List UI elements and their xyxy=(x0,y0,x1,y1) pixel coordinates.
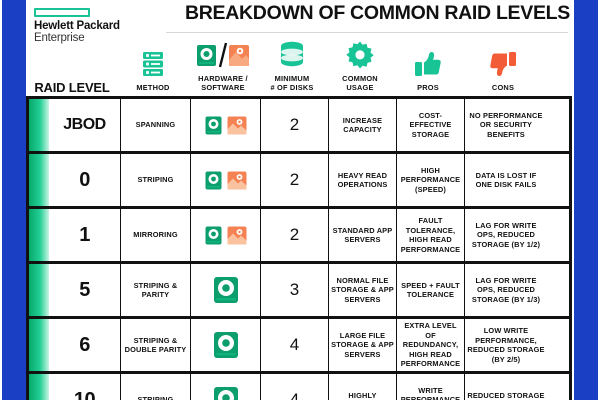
cell-minimum-disks: 2 xyxy=(261,99,329,151)
method-value: SPANNING xyxy=(136,120,176,130)
raid-levels-table: JBOD SPANNING 2 INCREASE CAPACITY COST-E… xyxy=(26,96,572,400)
cell-minimum-disks: 3 xyxy=(261,264,329,316)
cell-pros: HIGH PERFORMANCE (SPEED) xyxy=(397,154,465,206)
row-accent-bar xyxy=(29,374,49,400)
row-accent-bar xyxy=(29,264,49,316)
cell-cons: LAG FOR WRITE OPS, REDUCED STORAGE (BY 1… xyxy=(465,209,547,261)
raid-level-value: 10 xyxy=(74,389,95,400)
table-row: 0 STRIPING 2 HEAVY READ OPERATIONS HIGH … xyxy=(29,154,569,209)
hdd-and-software-icon xyxy=(196,39,250,71)
cell-cons: LAG FOR WRITE OPS, REDUCED STORAGE (BY 1… xyxy=(465,264,547,316)
common-usage-value: NORMAL FILE STORAGE & APP SERVERS xyxy=(331,276,394,305)
thumbs-down-icon xyxy=(489,48,517,80)
method-value: STRIPING & DOUBLE PARITY xyxy=(123,336,188,355)
hdd-and-software-icon xyxy=(205,226,247,245)
column-header-label-line1: MINIMUM xyxy=(275,74,310,83)
cons-value: DATA IS LOST IF ONE DISK FAILS xyxy=(467,171,545,190)
cell-common-usage: LARGE FILE STORAGE & APP SERVERS xyxy=(329,319,397,371)
column-headers: RAID LEVEL ME xyxy=(26,36,574,94)
cell-raid-level: JBOD xyxy=(29,99,121,151)
raid-level-value: 6 xyxy=(79,334,90,357)
column-header-pros: PROS xyxy=(394,36,462,94)
cell-common-usage: HEAVY READ OPERATIONS xyxy=(329,154,397,206)
right-blue-rail xyxy=(574,0,598,400)
brand-name-line1: Hewlett Packard xyxy=(34,20,164,32)
cell-pros: EXTRA LEVEL OF REDUNDANCY, HIGH READ PER… xyxy=(397,319,465,371)
cell-minimum-disks: 4 xyxy=(261,374,329,400)
page-title: BREAKDOWN OF COMMON RAID LEVELS xyxy=(185,2,570,25)
column-header-label-line2: SOFTWARE xyxy=(201,83,244,92)
cell-method: STRIPING & PARITY xyxy=(121,264,191,316)
hdd-icon xyxy=(213,276,239,304)
cell-common-usage: NORMAL FILE STORAGE & APP SERVERS xyxy=(329,264,397,316)
left-blue-rail xyxy=(2,0,26,400)
pros-value: WRITE PERFORMANCE + xyxy=(399,386,462,400)
cell-minimum-disks: 2 xyxy=(261,154,329,206)
pros-value: HIGH PERFORMANCE (SPEED) xyxy=(399,166,462,195)
cons-value: LAG FOR WRITE OPS, REDUCED STORAGE (BY 1… xyxy=(467,221,545,250)
cell-hardware-software xyxy=(191,99,261,151)
hdd-icon xyxy=(213,386,239,400)
cons-value: LOW WRITE PERFORMANCE, REDUCED STORAGE (… xyxy=(467,326,545,364)
cell-hardware-software xyxy=(191,319,261,371)
cell-hardware-software xyxy=(191,264,261,316)
hdd-and-software-icon xyxy=(205,116,247,135)
table-row: 1 MIRRORING 2 STANDARD APP SERVERS FAULT… xyxy=(29,209,569,264)
column-header-label-line1: HARDWARE / xyxy=(198,74,248,83)
raid-level-value: 1 xyxy=(79,224,90,247)
pros-value: COST-EFFECTIVE STORAGE xyxy=(399,111,462,140)
column-header-common-usage: COMMON USAGE xyxy=(326,36,394,94)
column-header-label-line1: COMMON xyxy=(342,74,378,83)
cell-method: STRIPING xyxy=(121,154,191,206)
cell-cons: NO PERFORMANCE OR SECURITY BENEFITS xyxy=(465,99,547,151)
common-usage-value: STANDARD APP SERVERS xyxy=(331,226,394,245)
common-usage-value: INCREASE CAPACITY xyxy=(331,116,394,135)
cell-raid-level: 1 xyxy=(29,209,121,261)
hdd-and-software-icon xyxy=(205,171,247,190)
column-header-label: RAID LEVEL xyxy=(34,83,109,92)
cell-hardware-software xyxy=(191,154,261,206)
column-header-cons: CONS xyxy=(462,36,544,94)
column-header-label: HARDWARE / SOFTWARE xyxy=(198,74,248,92)
thumbs-up-icon xyxy=(414,48,442,80)
cell-raid-level: 10 xyxy=(29,374,121,400)
cons-value: REDUCED STORAGE (1/2) xyxy=(467,391,545,400)
row-accent-bar xyxy=(29,319,49,371)
method-value: STRIPING & PARITY xyxy=(123,281,188,300)
header-divider xyxy=(166,32,568,33)
minimum-disks-value: 4 xyxy=(290,390,299,400)
row-accent-bar xyxy=(29,154,49,206)
pros-value: EXTRA LEVEL OF REDUNDANCY, HIGH READ PER… xyxy=(399,321,462,369)
cell-common-usage: STANDARD APP SERVERS xyxy=(329,209,397,261)
table-row: 6 STRIPING & DOUBLE PARITY 4 LARGE FILE … xyxy=(29,319,569,374)
infographic-sheet: Hewlett Packard Enterprise BREAKDOWN OF … xyxy=(26,0,574,400)
cell-method: STRIPING & DOUBLE PARITY xyxy=(121,319,191,371)
pros-value: FAULT TOLERANCE, HIGH READ PERFORMANCE xyxy=(399,216,462,254)
cell-method: SPANNING xyxy=(121,99,191,151)
pros-value: SPEED + FAULT TOLERANCE xyxy=(399,281,462,300)
column-header-minimum-disks: MINIMUM # OF DISKS xyxy=(258,36,326,94)
common-usage-value: HIGHLY UTILIZED xyxy=(331,391,394,400)
column-header-label: CONS xyxy=(492,83,514,92)
cell-hardware-software xyxy=(191,209,261,261)
cell-method: STRIPING xyxy=(121,374,191,400)
cell-hardware-software xyxy=(191,374,261,400)
cell-raid-level: 6 xyxy=(29,319,121,371)
column-header-hardware-software: HARDWARE / SOFTWARE xyxy=(188,36,258,94)
column-header-method: METHOD xyxy=(118,36,188,94)
server-stack-icon xyxy=(140,48,166,80)
cell-cons: DATA IS LOST IF ONE DISK FAILS xyxy=(465,154,547,206)
column-header-label: COMMON USAGE xyxy=(342,74,378,92)
row-accent-bar xyxy=(29,99,49,151)
common-usage-value: LARGE FILE STORAGE & APP SERVERS xyxy=(331,331,394,360)
cell-pros: COST-EFFECTIVE STORAGE xyxy=(397,99,465,151)
raid-level-value: 5 xyxy=(79,279,90,302)
minimum-disks-value: 2 xyxy=(290,115,299,135)
raid-level-value: 0 xyxy=(79,169,90,192)
column-header-label: MINIMUM # OF DISKS xyxy=(270,74,313,92)
column-header-label-line2: USAGE xyxy=(346,83,373,92)
table-row: JBOD SPANNING 2 INCREASE CAPACITY COST-E… xyxy=(29,99,569,154)
column-header-label: METHOD xyxy=(136,83,169,92)
row-accent-bar xyxy=(29,209,49,261)
method-value: STRIPING xyxy=(137,175,173,185)
minimum-disks-value: 4 xyxy=(290,335,299,355)
cons-value: NO PERFORMANCE OR SECURITY BENEFITS xyxy=(467,111,545,140)
column-header-raid-level: RAID LEVEL xyxy=(26,36,118,94)
column-header-label-line2: # OF DISKS xyxy=(270,83,313,92)
column-header-label: PROS xyxy=(417,83,439,92)
cell-minimum-disks: 2 xyxy=(261,209,329,261)
database-icon xyxy=(278,39,306,71)
cell-method: MIRRORING xyxy=(121,209,191,261)
gear-icon xyxy=(346,39,374,71)
method-value: MIRRORING xyxy=(133,230,177,240)
cell-cons: LOW WRITE PERFORMANCE, REDUCED STORAGE (… xyxy=(465,319,547,371)
common-usage-value: HEAVY READ OPERATIONS xyxy=(331,171,394,190)
cell-common-usage: INCREASE CAPACITY xyxy=(329,99,397,151)
cell-raid-level: 0 xyxy=(29,154,121,206)
cell-minimum-disks: 4 xyxy=(261,319,329,371)
cell-pros: WRITE PERFORMANCE + xyxy=(397,374,465,400)
cell-common-usage: HIGHLY UTILIZED xyxy=(329,374,397,400)
cell-pros: SPEED + FAULT TOLERANCE xyxy=(397,264,465,316)
cell-pros: FAULT TOLERANCE, HIGH READ PERFORMANCE xyxy=(397,209,465,261)
cons-value: LAG FOR WRITE OPS, REDUCED STORAGE (BY 1… xyxy=(467,276,545,305)
minimum-disks-value: 3 xyxy=(290,280,299,300)
hpe-logo-icon xyxy=(34,8,90,17)
cell-cons: REDUCED STORAGE (1/2) xyxy=(465,374,547,400)
table-row: 10 STRIPING 4 HIGHLY UTILIZED WRITE PERF… xyxy=(29,374,569,400)
raid-level-value: JBOD xyxy=(63,116,105,134)
header: Hewlett Packard Enterprise BREAKDOWN OF … xyxy=(26,0,574,96)
minimum-disks-value: 2 xyxy=(290,170,299,190)
hdd-icon xyxy=(213,331,239,359)
cell-raid-level: 5 xyxy=(29,264,121,316)
table-row: 5 STRIPING & PARITY 3 NORMAL FILE STORAG… xyxy=(29,264,569,319)
minimum-disks-value: 2 xyxy=(290,225,299,245)
method-value: STRIPING xyxy=(137,395,173,400)
